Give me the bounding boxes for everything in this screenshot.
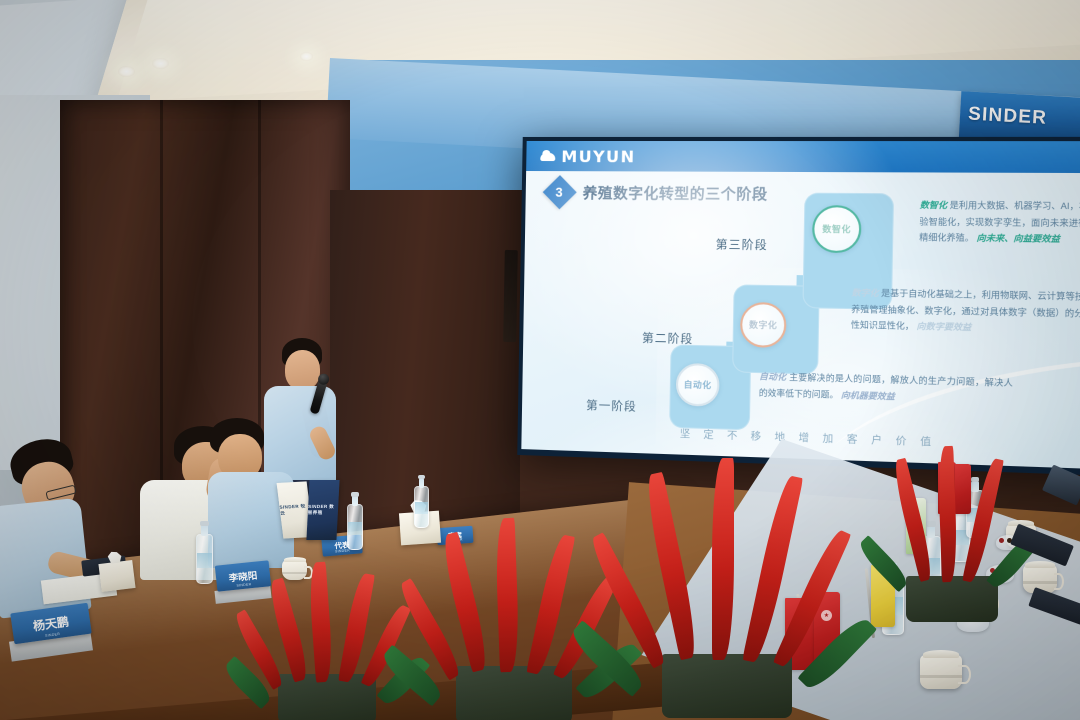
speaker-head xyxy=(285,350,320,390)
tent-card-text: SINDER 牧云 xyxy=(279,503,310,516)
plant-leaf xyxy=(308,562,334,683)
downlight-icon xyxy=(300,52,313,61)
plant-leaf xyxy=(937,446,958,582)
water-bottle xyxy=(196,534,213,584)
stage-label-3: 第三阶段 xyxy=(716,236,768,253)
stage-keyword-1: 自动化 xyxy=(759,371,786,382)
stage-highlight-2: 向数字要效益 xyxy=(916,321,971,333)
water-bottle xyxy=(347,504,363,550)
stage-paragraph-1: 自动化 主要解决的是人的问题，解放人的生产力问题，解决人的效率低下的问题。 向机… xyxy=(759,369,1013,408)
stage-staircase-diagram: 自动化 数字化 数智化 第一阶段 第二阶段 第三阶段 数智化 是利用大数据、机器… xyxy=(521,141,1080,469)
stage-highlight-1: 向机器要效益 xyxy=(841,389,895,401)
water-bottle xyxy=(414,486,429,528)
wall-banner-text: SINDER xyxy=(968,104,1048,130)
stage-highlight-3: 向未来、向益要效益 xyxy=(976,233,1060,244)
plant-leaf xyxy=(855,535,911,592)
tent-card-text: SINDER 数智养殖 xyxy=(308,504,339,516)
plant-pot xyxy=(906,576,998,622)
wall-mounted-bar xyxy=(503,250,518,342)
downlight-icon xyxy=(118,66,135,77)
bottle-label xyxy=(415,502,428,514)
bromeliad-plant xyxy=(400,524,620,720)
bromeliad-plant xyxy=(598,468,838,718)
conference-room-photo: SINDER MUYUN 3 养殖数字化转型的三个阶段 xyxy=(0,0,1080,720)
tent-card-dark: SINDER 数智养殖 xyxy=(306,480,339,540)
plant-leaf xyxy=(495,518,520,673)
plant-leaf xyxy=(712,458,734,660)
bottle-label xyxy=(348,522,362,535)
stage-label-2: 第二阶段 xyxy=(642,330,694,347)
tissue-box xyxy=(98,560,135,592)
teacup xyxy=(920,655,962,689)
plant-pot xyxy=(662,654,792,718)
bottle-label xyxy=(197,553,212,567)
projection-screen: MUYUN 3 养殖数字化转型的三个阶段 自动化 数字化 数智化 xyxy=(517,137,1080,476)
stage-label-1: 第一阶段 xyxy=(586,397,637,415)
bromeliad-plant xyxy=(228,556,428,720)
stage-keyword-2: 数字化 xyxy=(851,287,878,298)
downlight-icon xyxy=(152,58,169,69)
stage-paragraph-3: 数智化 是利用大数据、机器学习、AI，将养殖经验智能化，实现数字孪生，面向未来进… xyxy=(919,198,1080,249)
teacup-band xyxy=(920,675,962,678)
stage-paragraph-2: 数字化 是基于自动化基础之上，利用物联网、云计算等技术，将养殖管理抽象化、数字化… xyxy=(851,285,1080,339)
plant-leaf xyxy=(890,458,936,582)
stage-keyword-3: 数智化 xyxy=(920,200,948,211)
presentation-slide: MUYUN 3 养殖数字化转型的三个阶段 自动化 数字化 数智化 xyxy=(521,141,1080,469)
